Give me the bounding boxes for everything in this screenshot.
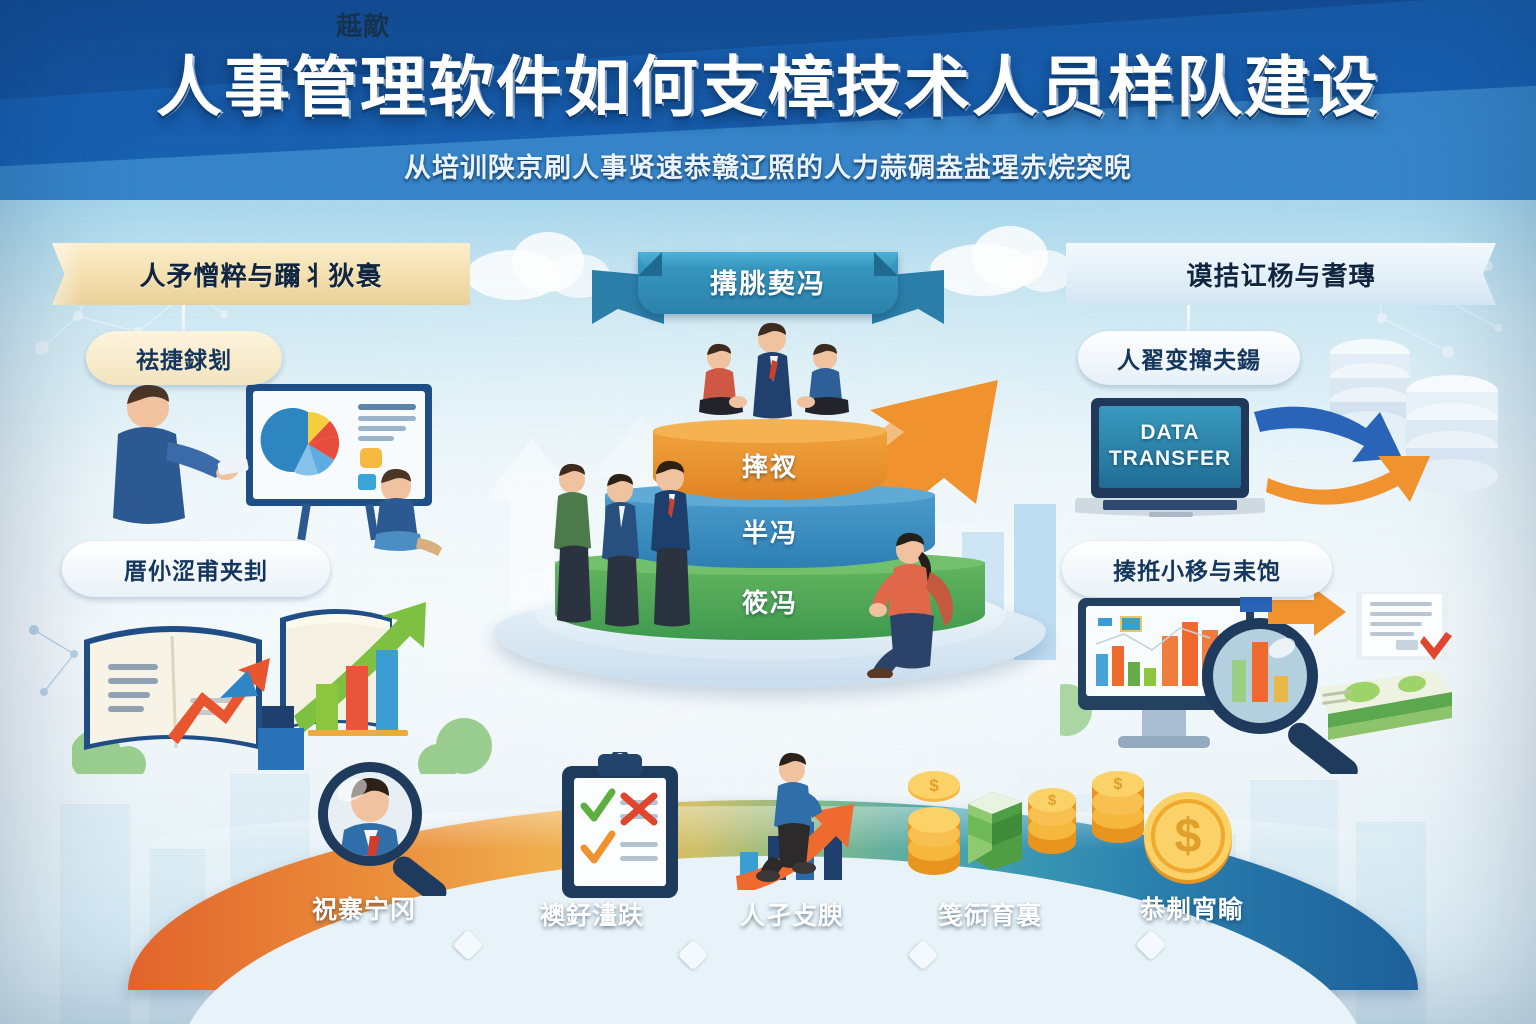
pyramid-peak-label: 趆歒 bbox=[336, 6, 390, 43]
laptop-icon: DATA TRANSFER bbox=[1075, 398, 1265, 520]
climbing-figure bbox=[864, 528, 982, 678]
left-section-banner[interactable]: 人矛憎粹与躎丬狄裛 bbox=[52, 243, 470, 305]
connector-line bbox=[1187, 303, 1190, 333]
svg-text:$: $ bbox=[929, 776, 939, 795]
arc-label-3[interactable]: 人孑攴腴 bbox=[740, 896, 844, 932]
arc-label-5[interactable]: 恭刜宵睮 bbox=[1140, 890, 1244, 926]
laptop-screen-line-1: DATA bbox=[1075, 420, 1265, 446]
transfer-arrows-icon bbox=[1250, 392, 1450, 510]
laptop-screen-line-2: TRANSFER bbox=[1075, 446, 1265, 472]
right-pill-top-label: 人翟变撺夫鍚 bbox=[1117, 341, 1261, 375]
left-pill-bottom-label: 厝仦涩甫夹刲 bbox=[124, 552, 268, 586]
svg-text:$: $ bbox=[1114, 776, 1123, 793]
left-pill-top-label: 祛捷銶刬 bbox=[136, 341, 232, 375]
arc-label-4[interactable]: 笺衏育裏 bbox=[938, 896, 1042, 932]
right-pill-bottom-label: 揍拰小移与耒饱 bbox=[1113, 552, 1281, 586]
right-section-banner[interactable]: 谟拮讧杨与耆瑼 bbox=[1066, 243, 1496, 305]
pyramid-tier-3-label: 筱冯 bbox=[742, 583, 798, 620]
right-pill-top[interactable]: 人翟变撺夫鍚 bbox=[1078, 331, 1300, 385]
connector-line bbox=[182, 303, 185, 333]
header: 人事管理软件如何支樟技术人员样队建设 从培训陕京刷人事贤速恭赣辽照的人力蒜碉盎盐… bbox=[0, 0, 1536, 215]
right-section-banner-label: 谟拮讧杨与耆瑼 bbox=[1186, 256, 1375, 293]
laptop-screen-text: DATA TRANSFER bbox=[1075, 420, 1265, 473]
bystander-figures-left bbox=[546, 446, 726, 632]
dollar-coin-icon: $ bbox=[1140, 790, 1236, 886]
cloud-icon bbox=[1016, 250, 1074, 292]
ribbon-label: 搆朓葜冯 bbox=[638, 252, 898, 310]
page-subtitle: 从培训陕京刷人事贤速恭赣辽照的人力蒜碉盎盐瑆赤烷突晲 bbox=[0, 146, 1536, 185]
coin-stack-icon: $ $ bbox=[898, 752, 1088, 892]
center-ribbon: 搆朓葜冯 bbox=[598, 252, 938, 326]
magnifier-person-icon bbox=[308, 756, 458, 896]
left-section-banner-label: 人矛憎粹与躎丬狄裛 bbox=[139, 256, 382, 293]
open-book-icon bbox=[72, 588, 492, 774]
svg-text:$: $ bbox=[1048, 792, 1057, 809]
infographic-canvas: 人事管理软件如何支樟技术人员样队建设 从培训陕京刷人事贤速恭赣辽照的人力蒜碉盎盐… bbox=[0, 0, 1536, 1024]
person-climbing-arrow-icon bbox=[726, 744, 876, 890]
left-pill-bottom[interactable]: 厝仦涩甫夹刲 bbox=[62, 541, 330, 597]
clipboard-check-icon bbox=[558, 752, 682, 902]
arc-label-2[interactable]: 襖釨澅趺 bbox=[540, 896, 644, 932]
magnifier-chart-icon bbox=[1060, 592, 1460, 774]
right-pill-bottom[interactable]: 揍拰小移与耒饱 bbox=[1062, 541, 1332, 597]
pyramid-tier-2-label: 半冯 bbox=[742, 513, 798, 550]
arc-label-1[interactable]: 祝寨宁冈 bbox=[312, 890, 416, 926]
team-figures-group bbox=[686, 322, 858, 432]
svg-text:$: $ bbox=[1175, 810, 1202, 863]
whiteboard-icon bbox=[96, 382, 446, 560]
page-title: 人事管理软件如何支樟技术人员样队建设 bbox=[0, 34, 1536, 130]
pyramid-tier-1-label: 摔衩 bbox=[742, 447, 798, 484]
left-pill-top[interactable]: 祛捷銶刬 bbox=[86, 331, 282, 385]
